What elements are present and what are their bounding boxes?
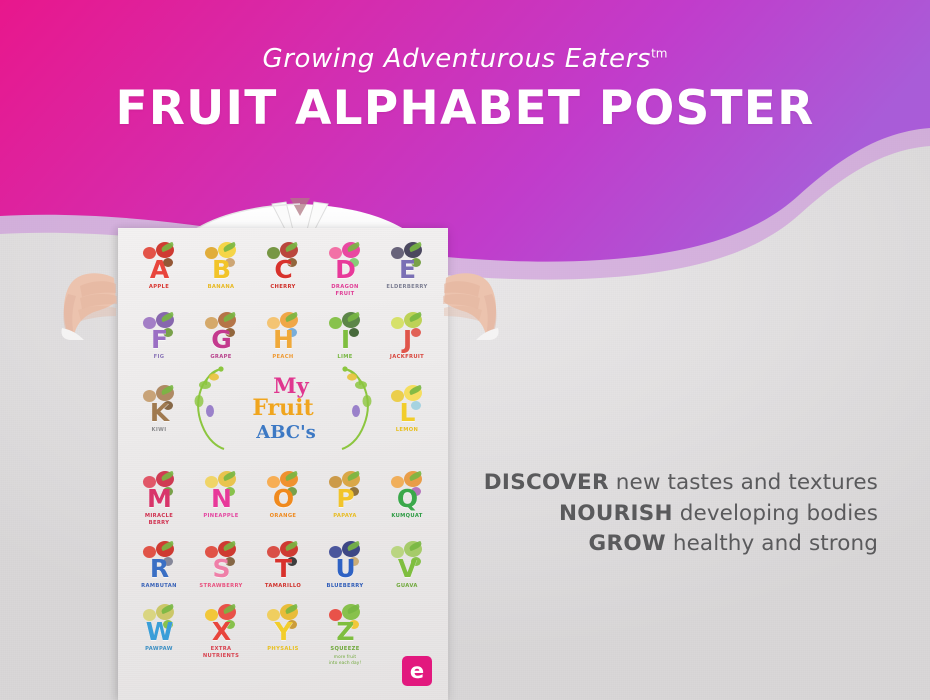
poster-alphabet-grid: AAPPLEBBANANACCHERRYDDRAGON FRUITEELDERB…: [128, 242, 438, 667]
poster-tile-y: YPHYSALIS: [252, 604, 314, 667]
tile-illustration-s: S: [190, 541, 252, 581]
tile-illustration-t: T: [252, 541, 314, 581]
tile-label: STRAWBERRY: [190, 583, 252, 590]
tile-letter: F: [151, 327, 167, 352]
tile-label: LIME: [314, 354, 376, 361]
poster-tile-q: QKUMQUAT: [376, 471, 438, 527]
tile-label: MIRACLE BERRY: [128, 513, 190, 527]
tile-letter: J: [403, 327, 411, 352]
poster-tile-a: AAPPLE: [128, 242, 190, 298]
tile-sublabel: more fruit into each day!: [314, 655, 376, 667]
poster-tile-x: XEXTRA NUTRIENTS: [190, 604, 252, 667]
poster-tile-i: ILIME: [314, 312, 376, 361]
poster-tile-c: CCHERRY: [252, 242, 314, 298]
tile-illustration-w: W: [128, 604, 190, 644]
tile-letter: S: [212, 556, 229, 581]
poster-tile-p: PPAPAYA: [314, 471, 376, 527]
tile-illustration-l: L: [376, 385, 438, 425]
tile-illustration-q: Q: [376, 471, 438, 511]
tile-illustration-j: J: [376, 312, 438, 352]
poster-tile-l: LLEMON: [376, 385, 438, 434]
tile-art-shape: [349, 328, 359, 337]
tile-letter: P: [336, 486, 353, 511]
tile-illustration-f: F: [128, 312, 190, 352]
poster-tile-w: WPAWPAW: [128, 604, 190, 667]
tile-letter: Y: [274, 619, 291, 644]
tile-label: PEACH: [252, 354, 314, 361]
benefit-text: developing bodies: [673, 501, 878, 526]
tile-label: SQUEEZE: [314, 646, 376, 653]
tile-letter: W: [146, 619, 173, 644]
tile-letter: U: [335, 556, 354, 581]
tile-letter: V: [398, 556, 416, 581]
tile-letter: M: [147, 486, 171, 511]
tile-label: LEMON: [376, 427, 438, 434]
poster-tile-u: UBLUEBERRY: [314, 541, 376, 590]
center-row-right: LLEMON: [376, 385, 438, 434]
tile-label: EXTRA NUTRIENTS: [190, 646, 252, 660]
tile-illustration-e: E: [376, 242, 438, 282]
tile-label: GUAVA: [376, 583, 438, 590]
tile-illustration-i: I: [314, 312, 376, 352]
poster-tile-r: RRAMBUTAN: [128, 541, 190, 590]
benefit-line: DISCOVER new tastes and textures: [448, 468, 878, 499]
tile-illustration-v: V: [376, 541, 438, 581]
tile-letter: B: [212, 257, 230, 282]
tile-illustration-x: X: [190, 604, 252, 644]
poster-tile-j: JJACKFRUIT: [376, 312, 438, 361]
tile-illustration-z: Z: [314, 604, 376, 644]
tile-label: KUMQUAT: [376, 513, 438, 520]
tile-letter: Z: [336, 619, 353, 644]
benefit-keyword: DISCOVER: [484, 470, 609, 495]
tile-label: RAMBUTAN: [128, 583, 190, 590]
tile-illustration-h: H: [252, 312, 314, 352]
poster-row: FFIGGGRAPEHPEACHILIMEJJACKFRUIT: [128, 312, 438, 361]
tile-letter: H: [273, 327, 293, 352]
right-hand: [438, 248, 500, 340]
tile-art-shape: [411, 328, 421, 337]
poster-tile-k: KKIWI: [128, 385, 190, 434]
tile-label: PINEAPPLE: [190, 513, 252, 520]
tile-letter: K: [150, 400, 168, 425]
poster-tile-d: DDRAGON FRUIT: [314, 242, 376, 298]
benefit-line: GROW healthy and strong: [448, 529, 878, 560]
tile-label: BANANA: [190, 284, 252, 291]
tile-label: PAPAYA: [314, 513, 376, 520]
benefit-text: healthy and strong: [666, 531, 878, 556]
tile-label: APPLE: [128, 284, 190, 291]
poster-tile-s: SSTRAWBERRY: [190, 541, 252, 590]
poster-tile-f: FFIG: [128, 312, 190, 361]
benefit-line: NOURISH developing bodies: [448, 499, 878, 530]
tile-illustration-a: A: [128, 242, 190, 282]
poster-row: MMIRACLE BERRYNPINEAPPLEOORANGEPPAPAYAQK…: [128, 471, 438, 527]
tile-letter: Q: [397, 486, 417, 511]
tile-letter: N: [211, 486, 231, 511]
tile-illustration-m: M: [128, 471, 190, 511]
poster-tile-h: HPEACH: [252, 312, 314, 361]
tile-illustration-b: B: [190, 242, 252, 282]
center-title-line1: My: [273, 375, 308, 396]
tile-letter: D: [335, 257, 355, 282]
tile-illustration-c: C: [252, 242, 314, 282]
tile-label: GRAPE: [190, 354, 252, 361]
tile-illustration-p: P: [314, 471, 376, 511]
tile-letter: X: [212, 619, 230, 644]
tile-letter: A: [150, 257, 168, 282]
tile-label: KIWI: [128, 427, 190, 434]
tile-label: ELDERBERRY: [376, 284, 438, 291]
tile-label: CHERRY: [252, 284, 314, 291]
benefits-list: DISCOVER new tastes and texturesNOURISH …: [448, 468, 878, 560]
tile-letter: C: [274, 257, 291, 282]
center-title-line2: Fruit: [252, 397, 313, 420]
tile-illustration-n: N: [190, 471, 252, 511]
tile-illustration-d: D: [314, 242, 376, 282]
tile-label: PHYSALIS: [252, 646, 314, 653]
poster-tile-g: GGRAPE: [190, 312, 252, 361]
tile-illustration-k: K: [128, 385, 190, 425]
poster-tile-e: EELDERBERRY: [376, 242, 438, 298]
poster-tile-o: OORANGE: [252, 471, 314, 527]
poster-promo-banner: AAPPLEBBANANACCHERRYDDRAGON FRUITEELDERB…: [0, 0, 930, 700]
poster-row: AAPPLEBBANANACCHERRYDDRAGON FRUITEELDERB…: [128, 242, 438, 298]
tile-illustration-g: G: [190, 312, 252, 352]
tile-illustration-o: O: [252, 471, 314, 511]
center-row-left: KKIWI: [128, 385, 190, 434]
benefit-text: new tastes and textures: [609, 470, 878, 495]
poster-center-row: KKIWIMyFruitABC'sLLEMON: [128, 361, 438, 457]
tile-label: ORANGE: [252, 513, 314, 520]
tile-label: TAMARILLO: [252, 583, 314, 590]
tile-label: DRAGON FRUIT: [314, 284, 376, 298]
poster-tile-m: MMIRACLE BERRY: [128, 471, 190, 527]
benefit-keyword: NOURISH: [559, 501, 673, 526]
tile-letter: R: [150, 556, 168, 581]
poster-tile-v: VGUAVA: [376, 541, 438, 590]
poster-tile-b: BBANANA: [190, 242, 252, 298]
fruit-alphabet-poster: AAPPLEBBANANACCHERRYDDRAGON FRUITEELDERB…: [118, 228, 448, 700]
poster-tile-n: NPINEAPPLE: [190, 471, 252, 527]
tile-illustration-u: U: [314, 541, 376, 581]
tile-letter: O: [273, 486, 293, 511]
poster-center-title: MyFruitABC's: [190, 361, 376, 457]
tile-letter: I: [341, 327, 349, 352]
poster-tile-t: TTAMARILLO: [252, 541, 314, 590]
poster-tile-z: ZSQUEEZEmore fruit into each day!: [314, 604, 376, 667]
tile-letter: T: [275, 556, 291, 581]
left-hand: [60, 248, 122, 340]
tile-illustration-y: Y: [252, 604, 314, 644]
tile-label: FIG: [128, 354, 190, 361]
poster-row: RRAMBUTANSSTRAWBERRYTTAMARILLOUBLUEBERRY…: [128, 541, 438, 590]
tile-label: JACKFRUIT: [376, 354, 438, 361]
tile-letter: E: [399, 257, 415, 282]
tile-label: BLUEBERRY: [314, 583, 376, 590]
center-title-line3: ABC's: [256, 423, 315, 443]
tile-letter: L: [400, 400, 415, 425]
benefit-keyword: GROW: [589, 531, 666, 556]
tile-letter: G: [211, 327, 231, 352]
poster-row: WPAWPAWXEXTRA NUTRIENTSYPHYSALISZSQUEEZE…: [128, 604, 438, 667]
tile-label: PAWPAW: [128, 646, 190, 653]
tile-illustration-r: R: [128, 541, 190, 581]
brand-e-badge: e: [402, 656, 432, 686]
